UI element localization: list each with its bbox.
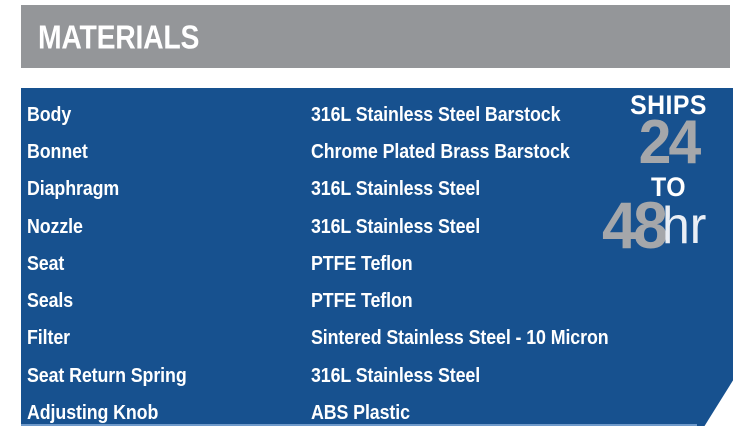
- material-value: ABS Plastic: [311, 403, 410, 423]
- table-row: BonnetChrome Plated Brass Barstock: [21, 133, 733, 170]
- material-value: 316L Stainless Steel: [311, 217, 480, 237]
- material-name: Seals: [27, 291, 73, 311]
- table-row: Body316L Stainless Steel Barstock: [21, 96, 733, 133]
- page-title: MATERIALS: [38, 20, 199, 53]
- materials-table: Body316L Stainless Steel BarstockBonnetC…: [21, 88, 733, 426]
- material-name: Body: [27, 105, 71, 125]
- material-value: PTFE Teflon: [311, 291, 413, 311]
- table-row: Diaphragm316L Stainless Steel: [21, 171, 733, 208]
- material-value: PTFE Teflon: [311, 254, 413, 274]
- table-row: FilterSintered Stainless Steel - 10 Micr…: [21, 320, 733, 357]
- panel-bottom-rule: [21, 424, 697, 426]
- material-name: Seat Return Spring: [27, 366, 187, 386]
- material-name: Seat: [27, 254, 64, 274]
- material-value: 316L Stainless Steel: [311, 366, 480, 386]
- material-name: Diaphragm: [27, 179, 119, 199]
- material-value: Sintered Stainless Steel - 10 Micron: [311, 328, 609, 348]
- material-name: Adjusting Knob: [27, 403, 158, 423]
- table-row: Seat Return Spring316L Stainless Steel: [21, 357, 733, 394]
- table-row: SealsPTFE Teflon: [21, 282, 733, 319]
- material-name: Bonnet: [27, 142, 88, 162]
- material-value: Chrome Plated Brass Barstock: [311, 142, 570, 162]
- material-name: Nozzle: [27, 217, 83, 237]
- material-value: 316L Stainless Steel: [311, 179, 480, 199]
- table-row: SeatPTFE Teflon: [21, 245, 733, 282]
- materials-header-bar: MATERIALS: [21, 5, 730, 68]
- table-row: Adjusting KnobABS Plastic: [21, 394, 733, 426]
- materials-panel: Body316L Stainless Steel BarstockBonnetC…: [21, 88, 733, 426]
- material-name: Filter: [27, 328, 70, 348]
- table-row: Nozzle316L Stainless Steel: [21, 208, 733, 245]
- material-value: 316L Stainless Steel Barstock: [311, 105, 560, 125]
